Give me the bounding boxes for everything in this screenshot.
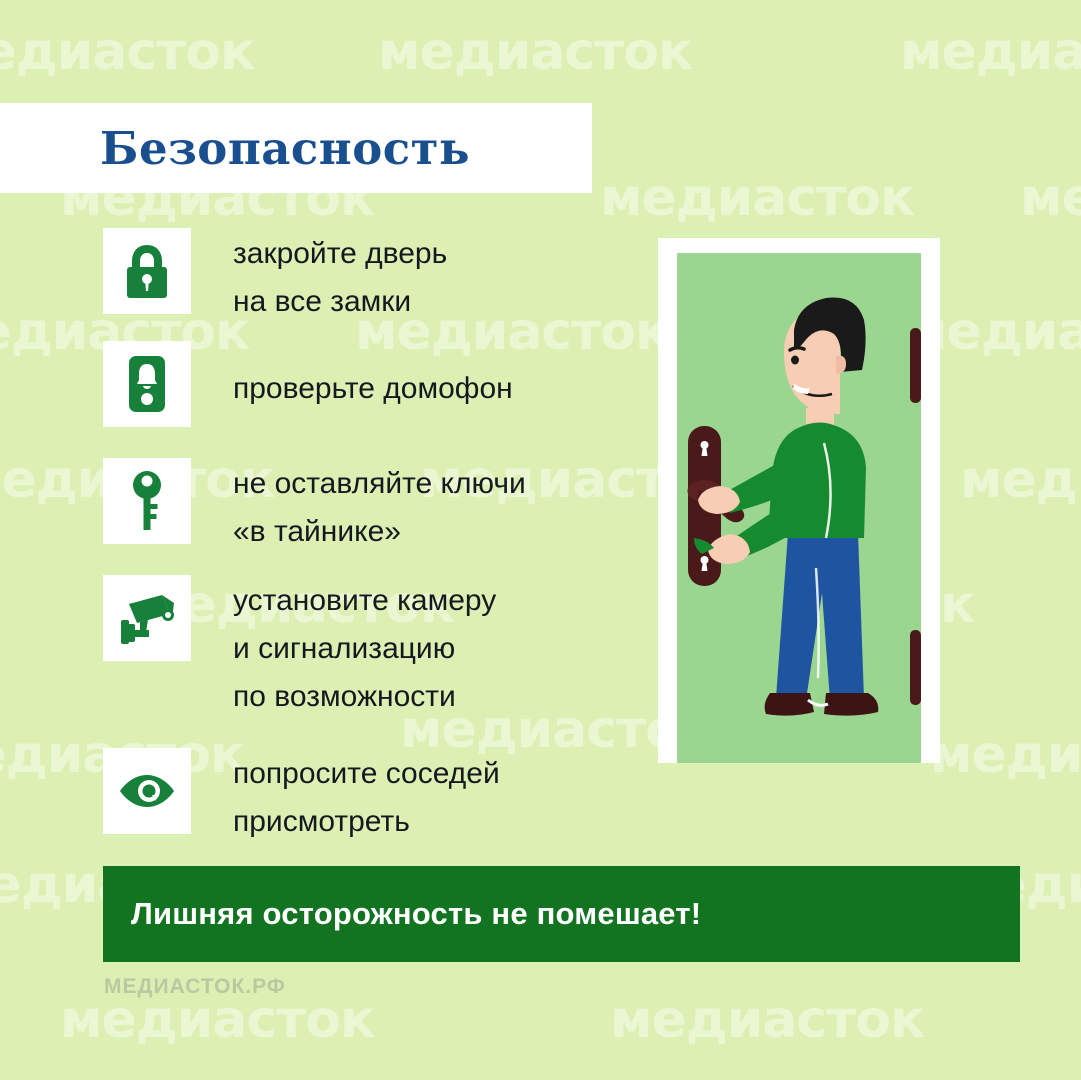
intercom-icon <box>126 354 168 414</box>
list-item: закройте дверь на все замки <box>103 228 447 326</box>
padlock-icon <box>122 242 172 300</box>
door-hinge-bottom <box>910 630 921 705</box>
icon-container <box>103 575 191 661</box>
watermark-text: медиасток <box>960 450 1081 510</box>
icon-container <box>103 228 191 314</box>
title-banner: Безопасность <box>0 103 592 193</box>
list-item-label: проверьте домофон <box>233 341 513 413</box>
watermark-text: медиасток <box>610 990 924 1050</box>
list-item-label: не оставляйте ключи «в тайнике» <box>233 458 526 556</box>
site-credit: МЕДИАСТОК.РФ <box>104 975 286 999</box>
list-item: не оставляйте ключи «в тайнике» <box>103 458 526 556</box>
watermark-text: медиасток <box>600 168 914 228</box>
eye-icon <box>116 773 178 809</box>
footer-banner: Лишняя осторожность не помешает! <box>103 866 1020 962</box>
watermark-text: медиасток <box>378 22 692 82</box>
icon-container <box>103 458 191 544</box>
watermark-text: медиасток <box>1020 168 1081 228</box>
icon-container <box>103 748 191 834</box>
watermark-text: медиасток <box>900 22 1081 82</box>
list-item: попросите соседей присмотреть <box>103 748 500 846</box>
watermark-text: медиасток <box>0 22 254 82</box>
man-locking-door-illustration <box>658 238 940 763</box>
key-icon <box>128 470 166 532</box>
infographic-poster: медиасток медиасток медиасток медиасток … <box>0 0 1081 1080</box>
door-hinge-top <box>910 328 921 403</box>
list-item: проверьте домофон <box>103 341 513 427</box>
illustration-svg <box>658 238 940 763</box>
list-item: установите камеру и сигнализацию по возм… <box>103 575 496 721</box>
security-camera-icon <box>116 590 178 646</box>
watermark-text: медиасток <box>930 725 1081 785</box>
eye <box>791 356 799 365</box>
footer-slogan: Лишняя осторожность не помешает! <box>131 896 701 932</box>
list-item-label: закройте дверь на все замки <box>233 228 447 326</box>
shoe-back <box>765 693 814 716</box>
watermark-text: медиасток <box>60 990 374 1050</box>
page-title: Безопасность <box>100 122 470 175</box>
shoe-front <box>824 693 878 716</box>
list-item-label: установите камеру и сигнализацию по возм… <box>233 575 496 721</box>
list-item-label: попросите соседей присмотреть <box>233 748 500 846</box>
icon-container <box>103 341 191 427</box>
